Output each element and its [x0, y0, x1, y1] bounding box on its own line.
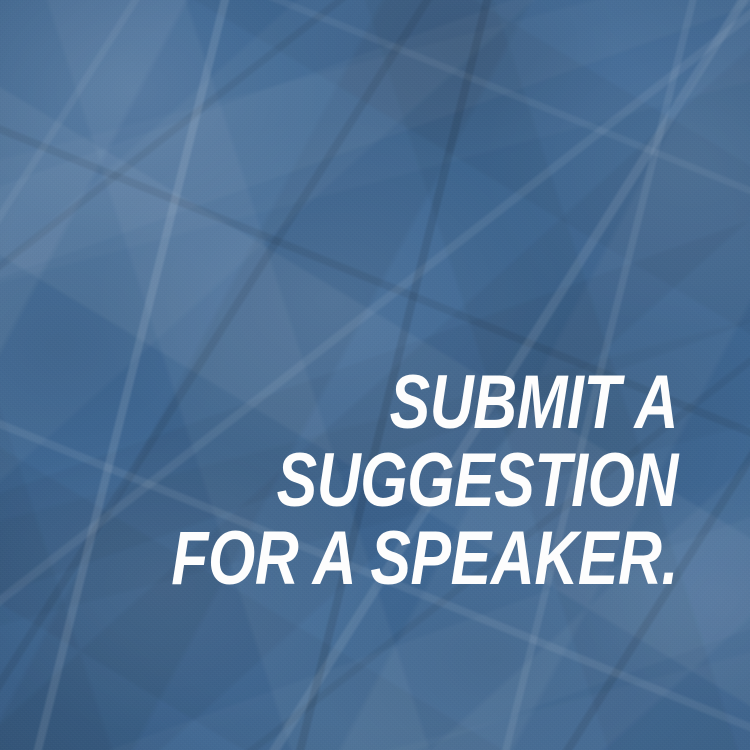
- headline: SUBMIT A SUGGESTION FOR A SPEAKER.: [136, 364, 678, 598]
- headline-line-2: SUGGESTION: [136, 442, 678, 520]
- headline-line-3: FOR A SPEAKER.: [136, 520, 678, 598]
- headline-line-1: SUBMIT A: [136, 364, 678, 442]
- poster-canvas: SUBMIT A SUGGESTION FOR A SPEAKER.: [0, 0, 750, 750]
